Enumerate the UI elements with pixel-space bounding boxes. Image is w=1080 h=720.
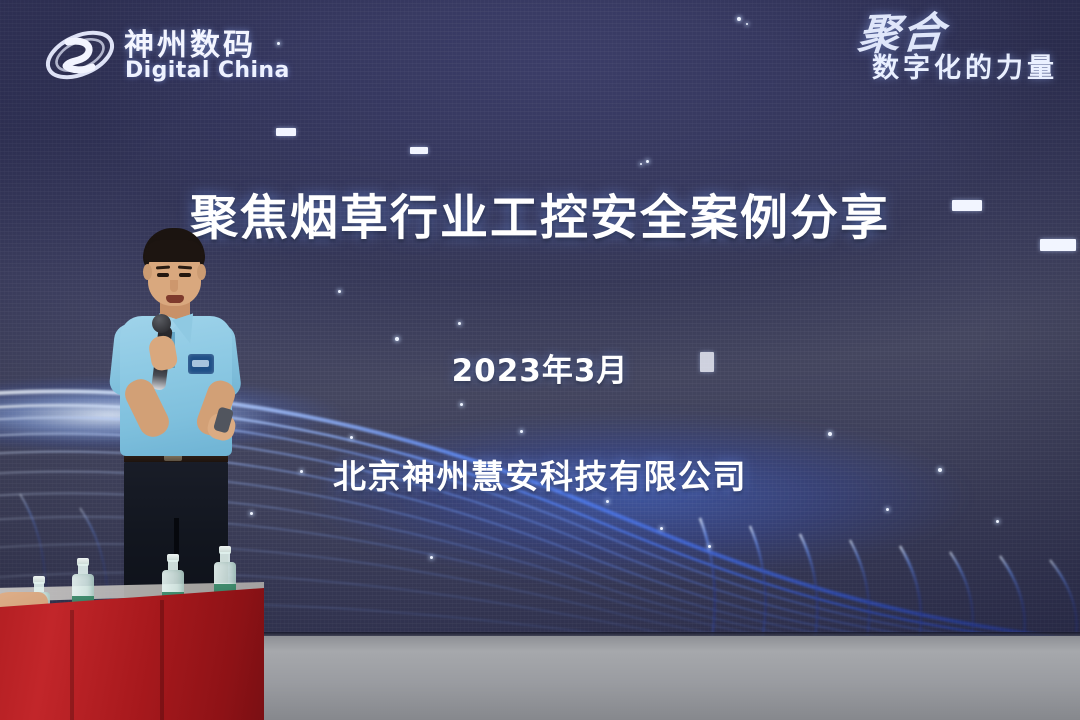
particle-dot: [460, 403, 463, 406]
speaker-eye-left: [157, 273, 169, 277]
speaker-eye-right: [179, 273, 191, 277]
particle-dot: [737, 17, 741, 21]
speaker-ear-right: [197, 264, 206, 280]
particle-dot: [640, 163, 642, 165]
particle-dot: [458, 322, 461, 325]
light-dash: [276, 128, 296, 136]
particle-dot: [606, 500, 609, 503]
particle-dot: [520, 430, 523, 433]
conference-photo: 神州数码 Digital China 聚合 数字化的力量 聚焦烟草行业工控安全案…: [0, 0, 1080, 720]
particle-dot: [646, 160, 649, 163]
particle-dot: [250, 512, 253, 515]
table-cloth: [0, 588, 264, 720]
particle-dot: [886, 508, 889, 511]
slogan-main-text: 聚合: [856, 12, 948, 55]
speaker-chest-badge: [188, 354, 214, 374]
speaker-hair-front: [144, 240, 204, 262]
light-dash: [410, 147, 428, 154]
particle-dot: [828, 432, 832, 436]
event-slogan: 聚合 数字化的力量: [858, 14, 1058, 85]
table-cloth-fold: [70, 610, 74, 720]
logo-english-name: Digital China: [125, 58, 290, 83]
digital-china-logo: 神州数码 Digital China: [42, 18, 297, 96]
speaker-nose: [170, 280, 178, 292]
particle-dot: [430, 556, 433, 559]
table-cloth-fold: [160, 600, 164, 720]
particle-dot: [338, 290, 341, 293]
particle-dot: [350, 436, 353, 439]
particle-dot: [660, 527, 663, 530]
panel-table: [0, 560, 272, 720]
speaker-ear-left: [143, 264, 152, 280]
speaker-mouth: [166, 295, 184, 303]
particle-dot: [708, 545, 711, 548]
particle-dot: [996, 520, 999, 523]
digital-china-swirl-icon: [42, 22, 118, 88]
particle-dot: [746, 23, 748, 25]
particle-dot: [395, 337, 399, 341]
